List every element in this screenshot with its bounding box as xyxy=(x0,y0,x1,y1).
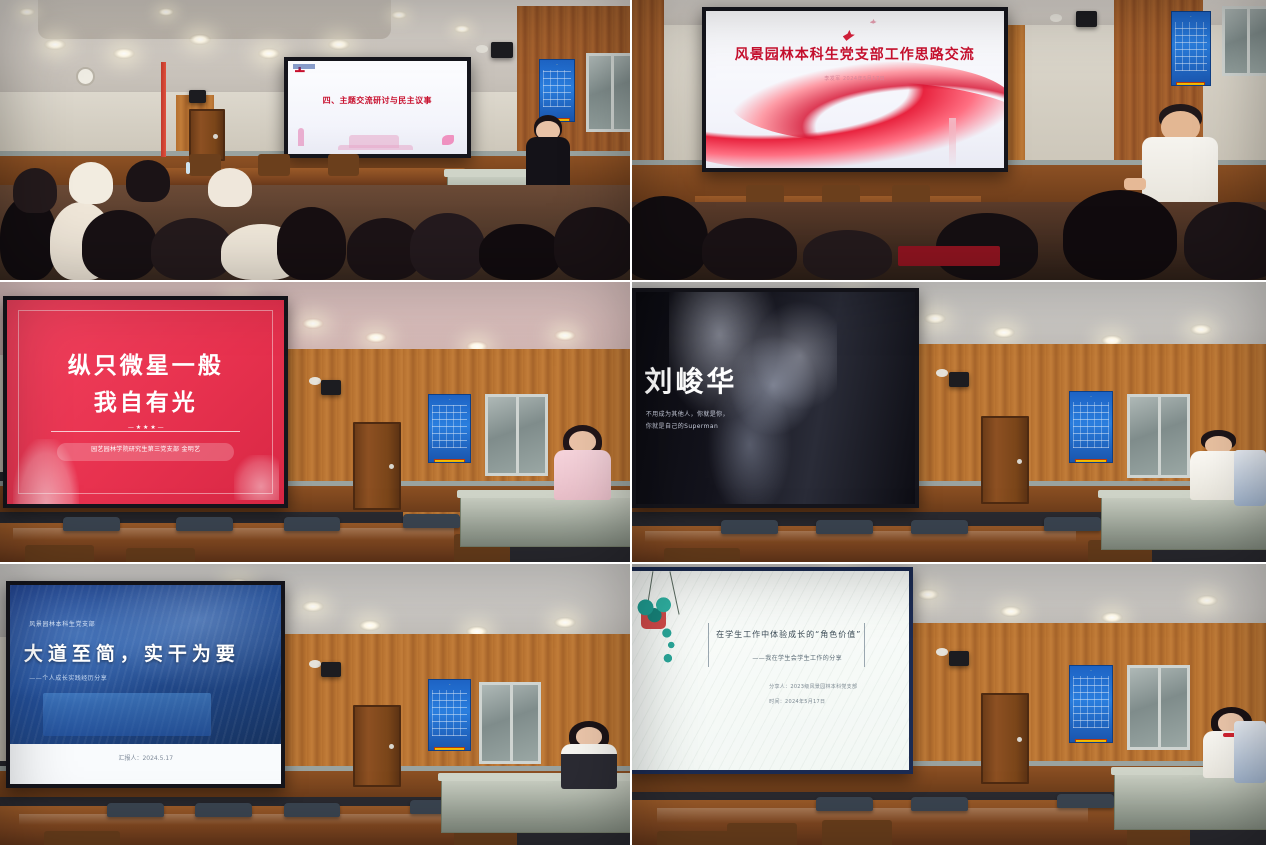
chair xyxy=(911,520,968,534)
poster-footer xyxy=(434,747,465,751)
projection-screen: 在学生工作中体验成长的“角色价值” ——我在学生会学生工作的分享 分享人：202… xyxy=(632,567,913,775)
plant-leaves-icon xyxy=(632,597,677,623)
slide-meta-line-2: 时间：2024年5月17日 xyxy=(769,698,825,705)
chair xyxy=(284,803,341,817)
poster-heading: · xyxy=(540,62,575,67)
red-ribbon-graphic-2 xyxy=(730,61,1004,143)
chair xyxy=(657,831,733,845)
audience-head xyxy=(208,168,252,207)
audience-head xyxy=(702,218,797,280)
slide-title-line-2: 我自有光 xyxy=(7,390,284,416)
chair xyxy=(258,154,290,176)
chair xyxy=(44,831,120,845)
audience-head xyxy=(126,160,170,202)
presenter-woman-pink xyxy=(554,425,611,501)
projection-screen: 四、主题交流研讨与民主议事 xyxy=(284,57,472,157)
poster-character-grid xyxy=(1073,676,1108,728)
title-rule-right xyxy=(864,623,865,667)
audience-head xyxy=(69,162,113,204)
audience-head xyxy=(803,230,892,280)
ceiling-light xyxy=(1196,595,1218,606)
chair xyxy=(63,517,120,531)
ceiling-light xyxy=(1190,324,1212,335)
chair xyxy=(195,803,252,817)
slide-title: 在学生工作中体验成长的“角色价值” xyxy=(716,629,861,640)
audience-head xyxy=(1063,190,1177,280)
chair xyxy=(816,520,873,534)
slide-subtitle: ——我在学生会学生工作的分享 xyxy=(752,653,842,662)
smoke-detector xyxy=(476,45,488,53)
chair xyxy=(727,823,797,845)
photo-panel-2[interactable]: · 风景园林本科生党支部工作思路交流 李发军 2024年5月17日 xyxy=(632,0,1266,280)
chair xyxy=(284,517,341,531)
slide-title: 大道至简，实干为要 xyxy=(24,639,240,666)
chair xyxy=(25,545,94,562)
room-window xyxy=(1127,665,1190,750)
poster-heading: · xyxy=(429,682,470,687)
poster-character-grid xyxy=(432,405,467,448)
ceiling-speaker xyxy=(189,90,206,103)
chair xyxy=(403,514,460,528)
audience-head xyxy=(410,213,486,280)
title-rule-left xyxy=(708,623,709,667)
projection-screen: 刘峻华 不用成为其他人，你就是你， 你就是自己的Superman xyxy=(632,288,919,509)
chair xyxy=(822,820,892,845)
audience-head xyxy=(82,210,158,280)
water-bottle xyxy=(186,162,190,174)
poster-character-grid xyxy=(432,690,467,736)
slide-footer-band xyxy=(10,744,281,784)
ceiling-light xyxy=(1000,606,1022,617)
ceiling-light xyxy=(1101,612,1123,623)
audience-head xyxy=(277,207,346,280)
ceiling-light xyxy=(189,34,211,45)
side-door xyxy=(353,705,401,788)
poster-heading: · xyxy=(429,397,470,402)
ceiling-light xyxy=(554,330,576,341)
ceiling-light xyxy=(924,313,946,324)
ceiling-light xyxy=(302,601,324,612)
presenter-torso xyxy=(561,744,618,789)
poster-footer xyxy=(1075,459,1106,463)
presenter-woman-vest xyxy=(561,721,618,788)
chair xyxy=(1057,794,1114,808)
poster-character-grid xyxy=(1175,22,1207,71)
room-window xyxy=(485,394,548,476)
slide-title: 风景园林本科生党支部工作思路交流 xyxy=(706,47,1004,63)
slide-title-line-1: 纵只微星一般 xyxy=(7,353,284,379)
slide-footer: 汇报人：2024.5.17 xyxy=(10,756,281,763)
audience-head xyxy=(13,168,57,213)
photo-collage: · 四、主题交流研讨与民主议事 xyxy=(0,0,1266,845)
slide-meta-line-1: 分享人：2023级风景园林本科党支部 xyxy=(769,683,857,690)
presenter-head xyxy=(569,431,596,452)
figure-graphic xyxy=(298,128,304,146)
slide-title: 四、主题交流研讨与民主议事 xyxy=(288,96,468,105)
room-window xyxy=(1222,6,1266,76)
decorative-vase xyxy=(1234,450,1266,506)
slide-subtitle: ——个人成长实践经历分享 xyxy=(29,673,107,682)
chair xyxy=(911,797,968,811)
presenter-torso xyxy=(526,137,570,187)
projection-screen: 风景园林本科生党支部 大道至简，实干为要 ——个人成长实践经历分享 汇报人：20… xyxy=(6,581,285,789)
ceiling-speaker xyxy=(491,42,513,58)
wall-poster: · xyxy=(428,679,471,751)
tiananmen-base xyxy=(338,145,413,150)
slide-subtitle-line-2: 你就是自己的Superman xyxy=(646,421,718,430)
wall-poster: · xyxy=(539,59,576,123)
dragon-illustration xyxy=(234,455,278,500)
projection-screen: 风景园林本科生党支部工作思路交流 李发军 2024年5月17日 xyxy=(702,7,1008,172)
presenter-hand xyxy=(1124,178,1145,190)
audience-head xyxy=(479,224,561,280)
wood-wall-left xyxy=(632,0,664,174)
decorative-vase xyxy=(1234,721,1266,783)
smoke-detector xyxy=(309,660,321,668)
slide-header: 风景园林本科生党支部 xyxy=(29,619,95,628)
side-door xyxy=(981,693,1029,784)
fire-pipe xyxy=(161,62,166,157)
lectern xyxy=(460,495,630,547)
photo-panel-6[interactable]: · 在学生工作中体验成长的“角色价值” ——我在学生会学生工作的分享 分享人：2… xyxy=(632,564,1266,845)
chair xyxy=(721,520,778,534)
ceiling-light xyxy=(993,327,1015,338)
side-door xyxy=(981,416,1029,504)
ceiling-speaker xyxy=(949,651,969,666)
chair xyxy=(176,517,233,531)
slide-subtitle-line-1: 不用成为其他人，你就是你， xyxy=(646,409,729,418)
slide-title: 刘峻华 xyxy=(644,360,737,400)
ceiling-light xyxy=(258,48,280,59)
poster-character-grid xyxy=(1073,402,1108,448)
smoke-detector xyxy=(309,377,321,385)
room-window xyxy=(586,53,630,132)
red-booklets xyxy=(898,246,999,266)
chair xyxy=(664,548,740,562)
photo-panel-5[interactable]: · 风景园林本科生党支部 大道至简，实干为要 ——个人成长实践经历分享 汇报人：… xyxy=(0,564,630,845)
poster-footer xyxy=(434,459,465,463)
poster-heading: · xyxy=(1070,394,1111,399)
photo-panel-3[interactable]: · 纵只微星一般 我自有光 — ★ ★ ★ — 园艺园林学院研究生第三党支部 金… xyxy=(0,282,630,562)
room-window xyxy=(479,682,542,764)
ceiling-speaker xyxy=(949,372,969,387)
ceiling-soffit xyxy=(38,0,391,39)
slide-subtitle: 李发军 2024年5月17日 xyxy=(706,77,1004,83)
chair xyxy=(107,803,164,817)
chair xyxy=(126,548,195,562)
wall-clock xyxy=(76,67,95,86)
ceiling-speaker xyxy=(1076,11,1097,27)
ceiling-light xyxy=(328,39,350,50)
wall-poster: · xyxy=(428,394,471,463)
presenter-woman-black xyxy=(523,115,573,188)
poster-heading: · xyxy=(1070,668,1111,673)
poster-footer xyxy=(1176,82,1205,86)
temple-illustration xyxy=(13,439,80,504)
ceiling-light xyxy=(113,48,135,59)
room-window xyxy=(1127,394,1190,478)
wall-poster: · xyxy=(1069,665,1112,743)
slide-header-bar xyxy=(293,64,315,69)
ceiling-light xyxy=(454,25,470,33)
sports-field-graphic xyxy=(43,693,211,737)
projection-screen: 纵只微星一般 我自有光 — ★ ★ ★ — 园艺园林学院研究生第三党支部 金明艺 xyxy=(3,296,288,508)
flower-graphic xyxy=(442,135,454,145)
chair xyxy=(816,797,873,811)
ceiling-light xyxy=(391,11,407,19)
plant-vine-icon xyxy=(658,627,680,667)
presenter-torso xyxy=(554,450,611,500)
wall-poster: · xyxy=(1069,391,1112,463)
poster-footer xyxy=(1075,739,1106,743)
monument-graphic xyxy=(949,118,956,168)
poster-heading: · xyxy=(1172,14,1210,19)
audience-head xyxy=(554,207,630,280)
side-door xyxy=(353,422,401,510)
presenter-head xyxy=(576,727,602,746)
slide-divider-stars: — ★ ★ ★ — xyxy=(7,425,284,432)
chair xyxy=(1044,517,1101,531)
poster-character-grid xyxy=(543,70,572,108)
wall-poster: · xyxy=(1171,11,1211,86)
chair xyxy=(328,154,360,176)
photo-panel-1[interactable]: · 四、主题交流研讨与民主议事 xyxy=(0,0,630,280)
ceiling-speaker xyxy=(321,380,341,395)
ceiling-speaker xyxy=(321,662,341,677)
smoke-detector xyxy=(936,369,948,377)
photo-panel-4[interactable]: · 刘峻华 不用成为其他人，你就是你， 你就是自己的Superman xyxy=(632,282,1266,562)
